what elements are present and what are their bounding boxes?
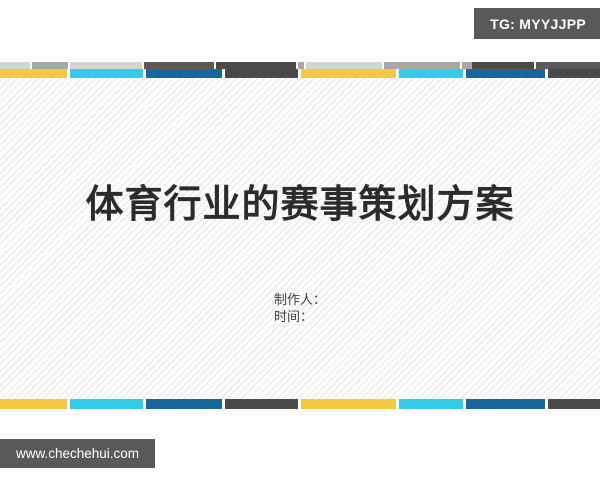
top-white-band: TG: MYYJJPP bbox=[0, 0, 600, 62]
bottom-decorative-bars bbox=[0, 399, 600, 409]
top-gray-bar-segment bbox=[216, 62, 296, 69]
bottom-color-bar-segment bbox=[146, 399, 222, 409]
top-color-bar-segment bbox=[466, 69, 545, 78]
top-gray-bar-segment bbox=[144, 62, 214, 69]
footer-white-band: www.chechehui.com bbox=[0, 409, 600, 480]
slide-meta-line: 制作人： bbox=[274, 291, 326, 308]
top-gray-bar-segment bbox=[472, 62, 534, 69]
top-decorative-bars bbox=[0, 62, 600, 78]
top-color-bar-segment bbox=[301, 69, 396, 78]
bottom-color-bar-segment bbox=[548, 399, 600, 409]
top-color-bar-segment bbox=[0, 69, 67, 78]
slide-meta-lines: 制作人：时间： bbox=[274, 291, 326, 325]
slide-content-panel: 体育行业的赛事策划方案 制作人：时间： bbox=[0, 78, 600, 399]
top-gray-bar-segment bbox=[384, 62, 460, 69]
top-gray-bar-segment bbox=[0, 62, 30, 69]
top-color-bar-segment bbox=[146, 69, 222, 78]
telegram-watermark-badge: TG: MYYJJPP bbox=[474, 8, 600, 39]
bottom-color-bar-segment bbox=[301, 399, 396, 409]
top-color-bar-segment bbox=[70, 69, 143, 78]
top-color-bar-segment bbox=[399, 69, 463, 78]
bottom-color-bar-segment bbox=[70, 399, 143, 409]
top-color-strip-row bbox=[0, 69, 600, 78]
bottom-color-bar-segment bbox=[399, 399, 463, 409]
top-gray-bar-segment bbox=[32, 62, 68, 69]
top-color-bar-segment bbox=[225, 69, 298, 78]
top-gray-bar-segment bbox=[462, 62, 472, 69]
page-title: 体育行业的赛事策划方案 bbox=[0, 184, 600, 228]
top-color-bar-segment bbox=[548, 69, 600, 78]
top-gray-strip-row bbox=[0, 62, 600, 69]
website-watermark-badge: www.chechehui.com bbox=[0, 439, 155, 468]
bottom-color-bar-segment bbox=[225, 399, 298, 409]
top-gray-bar-segment bbox=[306, 62, 382, 69]
bottom-color-bar-segment bbox=[466, 399, 545, 409]
presentation-cover-slide: TG: MYYJJPP 体育行业的赛事策划方案 制作人：时间： www.chec… bbox=[0, 0, 600, 480]
slide-meta-block: 制作人：时间： bbox=[0, 291, 600, 326]
slide-meta-line: 时间： bbox=[274, 308, 326, 325]
top-gray-bar-segment bbox=[536, 62, 600, 69]
top-gray-bar-segment bbox=[70, 62, 142, 69]
bottom-color-bar-segment bbox=[0, 399, 67, 409]
